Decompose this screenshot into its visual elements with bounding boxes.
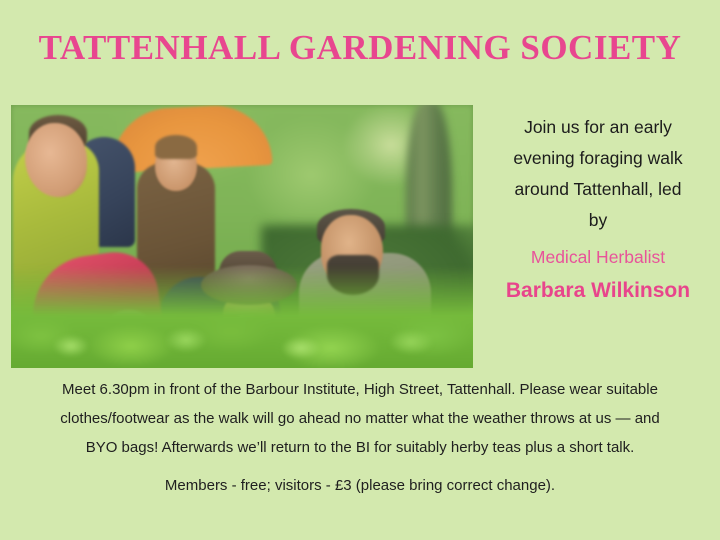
details-line-2: clothes/footwear as the walk will go ahe… <box>0 404 720 433</box>
foraging-walk-photo <box>11 105 473 368</box>
details-line-3: BYO bags! Afterwards we’ll return to the… <box>0 433 720 462</box>
poster: TATTENHALL GARDENING SOCIETY Join us for… <box>0 0 720 540</box>
invitation-line-3: around Tattenhall, led <box>487 174 709 205</box>
brown-jacket-man-hair <box>155 135 197 159</box>
foreground-foliage-highlights <box>11 310 473 368</box>
page-title: TATTENHALL GARDENING SOCIETY <box>0 28 720 68</box>
price-line: Members - free; visitors - £3 (please br… <box>0 471 720 500</box>
invitation-line-1: Join us for an early <box>487 112 709 143</box>
presenter-role: Medical Herbalist <box>487 243 709 271</box>
yellow-jacket-person-head <box>25 123 87 197</box>
presenter-name: Barbara Wilkinson <box>487 277 709 305</box>
invitation-block: Join us for an early evening foraging wa… <box>487 112 709 305</box>
event-details: Meet 6.30pm in front of the Barbour Inst… <box>0 375 720 500</box>
invitation-line-2: evening foraging walk <box>487 143 709 174</box>
invitation-line-4: by <box>487 205 709 236</box>
details-line-1: Meet 6.30pm in front of the Barbour Inst… <box>0 375 720 404</box>
